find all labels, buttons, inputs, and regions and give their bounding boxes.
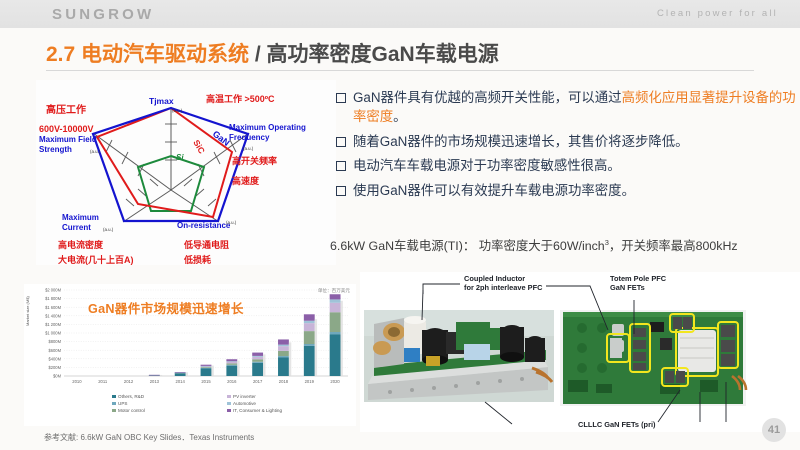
x-axis-tick-label: 2013 <box>150 379 160 384</box>
square-bullet-icon <box>336 186 346 196</box>
svg-text:Maximum: Maximum <box>62 213 99 222</box>
svg-text:$1 600M: $1 600M <box>45 305 62 310</box>
chart-legend: Others, R&DPV inverterUPSAutomotiveMotor… <box>112 394 342 415</box>
bar-segment <box>175 372 186 373</box>
title-divider <box>46 70 754 71</box>
svg-text:$1 800M: $1 800M <box>45 296 62 301</box>
bar-segment <box>201 367 212 368</box>
bar-segment <box>330 294 341 299</box>
x-axis-tick-label: 2010 <box>72 379 82 384</box>
chart-unit-note: 单位：百万美元 <box>318 288 350 294</box>
bar-segment <box>201 365 212 366</box>
annotation-coupled-inductor: Coupled Inductor for 2ph interleave PFC <box>464 274 542 293</box>
annotation-totem-pole: Totem Pole PFC GaN FETs <box>610 274 666 293</box>
radar-annot-bl-1: 高电流密度 <box>58 239 104 250</box>
sungrow-logo: SUNGROW <box>52 6 154 23</box>
bar-segment <box>278 356 289 357</box>
x-axis-tick-label: 2016 <box>227 379 237 384</box>
photo-right-pcb <box>560 310 746 406</box>
bar-segment <box>252 362 263 363</box>
legend-item: Motor control <box>112 408 227 413</box>
svg-text:$1 400M: $1 400M <box>45 313 62 318</box>
legend-swatch <box>112 409 116 413</box>
radar-annot-top-left-2: 600V-10000V <box>39 124 94 134</box>
x-axis-tick-label: 2018 <box>279 379 289 384</box>
legend-label: Others, R&D <box>118 394 144 399</box>
list-item: GaN器件具有优越的高频开关性能，可以通过高频化应用显著提升设备的功率密度。 <box>336 88 796 127</box>
x-axis-tick-label: 2015 <box>201 379 211 384</box>
bullet-text: 电动汽车车载电源对于功率密度敏感性很高。 <box>353 156 621 175</box>
bullet-list: GaN器件具有优越的高频开关性能，可以通过高频化应用显著提升设备的功率密度。 随… <box>336 88 796 205</box>
bullet-text: 随着GaN器件的市场规模迅速增长，其售价将逐步降低。 <box>353 132 689 151</box>
bar-segment <box>252 356 263 357</box>
svg-text:$400M: $400M <box>48 356 61 361</box>
svg-text:$800M: $800M <box>48 339 61 344</box>
reference-note: 参考文献: 6.6kW GaN OBC Key Slides．Texas Ins… <box>44 432 254 443</box>
bar-segment <box>304 346 315 376</box>
svg-text:Current: Current <box>62 223 91 232</box>
bullet-text: 使用GaN器件可以有效提升车载电源功率密度。 <box>353 181 635 200</box>
bar-segment <box>252 359 263 361</box>
svg-text:Strength: Strength <box>39 145 72 154</box>
legend-label: IT, Consumer & Lighting <box>233 408 282 413</box>
bar-segment <box>226 365 237 366</box>
radar-annot-br-2: 低损耗 <box>183 254 211 265</box>
bar-segment <box>304 321 315 323</box>
legend-label: PV inverter <box>233 394 256 399</box>
svg-text:$1 200M: $1 200M <box>45 322 62 327</box>
radar-chart: GaN SiC Si Tjmax (a.u.) Maximum Operatin… <box>36 80 336 265</box>
bar-segment <box>149 375 160 376</box>
radar-annot-br-1: 低导通电阻 <box>183 239 229 250</box>
svg-text:(a.u.): (a.u.) <box>90 149 101 154</box>
bar-segment <box>226 361 237 362</box>
photo-left-obc-board <box>364 310 554 402</box>
bar-segment <box>226 359 237 361</box>
x-axis-tick-label: 2012 <box>124 379 134 384</box>
legend-item: PV inverter <box>227 394 342 399</box>
radar-annot-top-right: 高温工作 >500ºC <box>206 93 275 104</box>
x-axis-tick-label: 2020 <box>330 379 340 384</box>
svg-text:Maximum Operating: Maximum Operating <box>229 123 306 132</box>
market-size-bar-chart: 单位：百万美元 GaN器件市场规模迅速增长 Market size (M$) $… <box>24 284 356 426</box>
obc-photos: Coupled Inductor for 2ph interleave PFC … <box>360 272 800 432</box>
radar-annot-right-1: 高开关频率 <box>232 155 277 166</box>
legend-swatch <box>112 395 116 399</box>
svg-text:$2 000M: $2 000M <box>45 288 62 293</box>
svg-text:$1 000M: $1 000M <box>45 331 62 336</box>
legend-item: IT, Consumer & Lighting <box>227 408 342 413</box>
bar-segment <box>278 346 289 351</box>
legend-swatch <box>227 409 231 413</box>
bar-segment <box>304 344 315 346</box>
bar-segment <box>226 363 237 364</box>
bar-segment <box>252 357 263 359</box>
x-axis-tick-label: 2017 <box>253 379 263 384</box>
list-item: 随着GaN器件的市场规模迅速增长，其售价将逐步降低。 <box>336 132 796 151</box>
svg-text:$200M: $200M <box>48 365 61 370</box>
chart-y-axis-label: Market size (M$) <box>25 296 30 326</box>
x-axis-tick-label: 2011 <box>98 379 108 384</box>
svg-text:Frequency: Frequency <box>229 133 270 142</box>
bar-segment <box>226 366 237 376</box>
bar-segment <box>304 323 315 331</box>
square-bullet-icon <box>336 161 346 171</box>
svg-text:Tjmax: Tjmax <box>149 96 174 106</box>
svg-text:(a.u.): (a.u.) <box>243 146 254 151</box>
svg-text:(a.u.): (a.u.) <box>172 108 183 113</box>
bar-segment <box>330 299 341 302</box>
square-bullet-icon <box>336 137 346 147</box>
radar-annot-bl-2: 大电流(几十上百A) <box>58 254 134 265</box>
legend-swatch <box>227 402 231 406</box>
legend-item: Automotive <box>227 401 342 406</box>
bar-segment <box>330 335 341 376</box>
bullet-text: GaN器件具有优越的高频开关性能，可以通过高频化应用显著提升设备的功率密度。 <box>353 88 796 127</box>
bar-segment <box>278 358 289 376</box>
bar-segment <box>304 314 315 320</box>
bar-segment <box>175 373 186 376</box>
square-bullet-icon <box>336 93 346 103</box>
legend-item: Others, R&D <box>112 394 227 399</box>
annotation-clllc: CLLLC GaN FETs (pri) <box>578 420 655 429</box>
bar-segment <box>330 303 341 312</box>
bar-segment <box>278 345 289 347</box>
radar-annot-right-2: 高速度 <box>232 175 260 186</box>
bar-segment <box>201 366 212 367</box>
legend-swatch <box>227 395 231 399</box>
radar-annot-top-left-1: 高压工作 <box>46 103 86 116</box>
legend-item: UPS <box>112 401 227 406</box>
x-axis-tick-label: 2014 <box>176 379 186 384</box>
bar-segment <box>252 353 263 356</box>
page-title-rest: / 高功率密度GaN车载电源 <box>249 43 499 66</box>
bar-segment <box>330 332 341 334</box>
svg-text:$600M: $600M <box>48 348 61 353</box>
bar-segment <box>226 362 237 363</box>
legend-label: UPS <box>118 401 127 406</box>
svg-text:Maximum Field: Maximum Field <box>39 135 97 144</box>
legend-swatch <box>112 402 116 406</box>
bar-segment <box>330 312 341 332</box>
list-item: 使用GaN器件可以有效提升车载电源功率密度。 <box>336 181 796 200</box>
slide-number: 41 <box>762 418 786 442</box>
svg-text:(a.u.): (a.u.) <box>103 227 114 232</box>
svg-text:(a.u.): (a.u.) <box>226 220 237 225</box>
bar-segment <box>278 351 289 356</box>
svg-text:Si: Si <box>176 153 184 162</box>
list-item: 电动汽车车载电源对于功率密度敏感性很高。 <box>336 156 796 175</box>
legend-label: Automotive <box>233 401 256 406</box>
svg-text:$0M: $0M <box>53 374 62 379</box>
chart-title: GaN器件市场规模迅速增长 <box>88 298 244 317</box>
header-tagline: Clean power for all <box>657 8 778 19</box>
bar-segment <box>278 339 289 344</box>
svg-text:On-resistance: On-resistance <box>177 221 231 230</box>
x-axis-tick-label: 2019 <box>305 379 315 384</box>
page-title-number: 2.7 电动汽车驱动系统 <box>46 43 249 66</box>
power-supply-caption: 6.6kW GaN车载电源(TI)： 功率密度大于60W/inch3，开关频率最… <box>330 236 738 254</box>
legend-label: Motor control <box>118 408 145 413</box>
page-title: 2.7 电动汽车驱动系统 / 高功率密度GaN车载电源 <box>46 38 499 68</box>
bar-segment <box>252 363 263 376</box>
bar-segment <box>201 368 212 369</box>
bar-segment <box>304 331 315 344</box>
bar-segment <box>201 368 212 376</box>
